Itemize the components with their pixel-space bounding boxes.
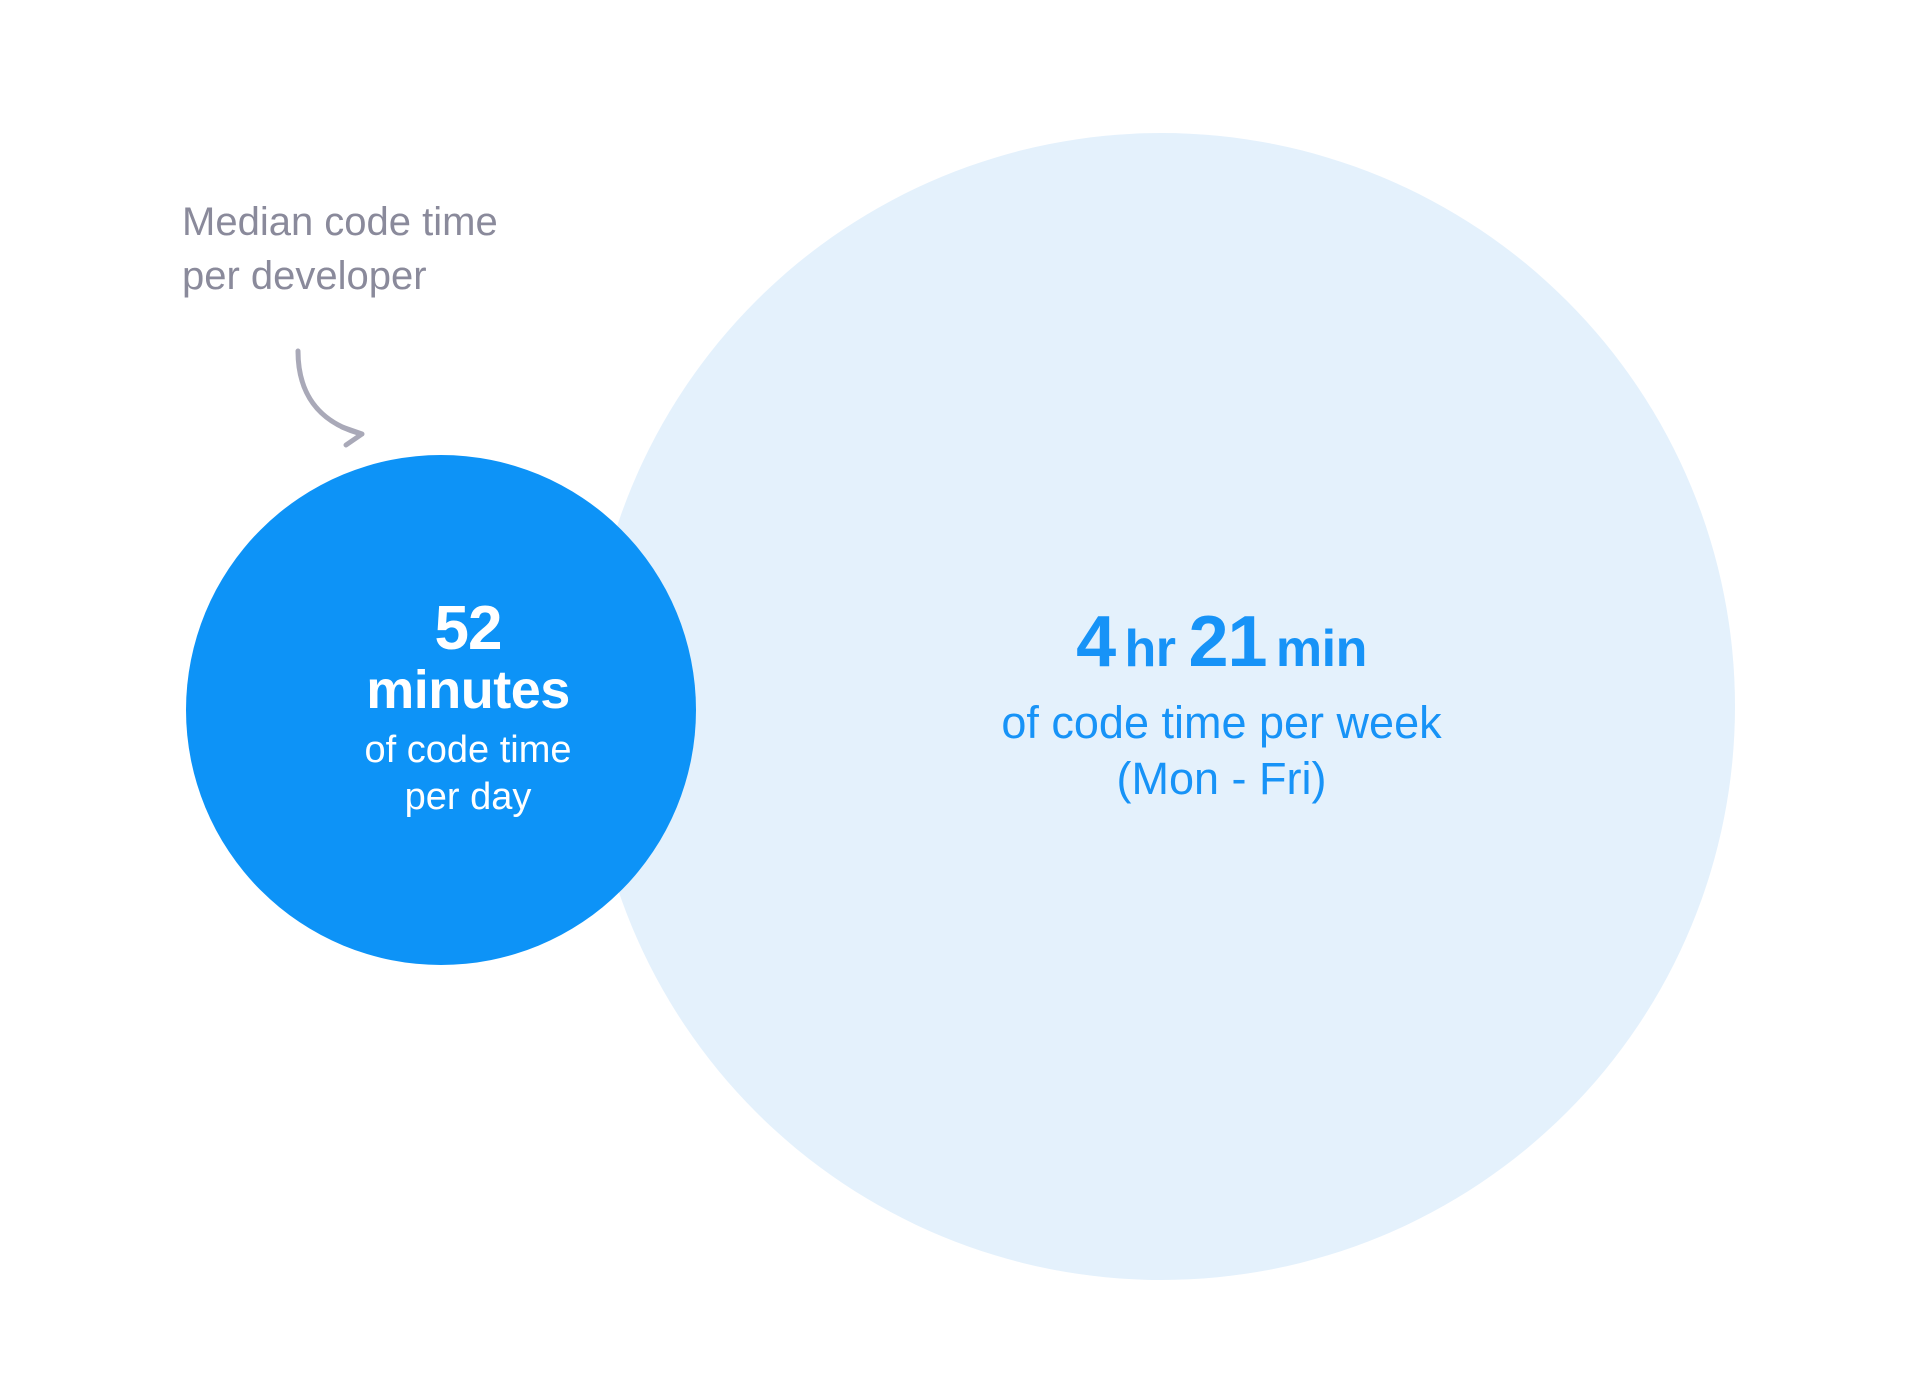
infographic-card: 4hr21min of code time per week (Mon - Fr…: [0, 0, 1920, 1383]
weekly-hours-unit: hr: [1125, 620, 1176, 678]
daily-caption-line-1: of code time: [365, 727, 572, 775]
daily-unit: minutes: [366, 660, 570, 720]
annotation-label: Median code time per developer: [182, 195, 498, 303]
weekly-caption: of code time per week (Mon - Fri): [1001, 695, 1441, 808]
weekly-minutes-unit: min: [1276, 620, 1367, 678]
weekly-caption-line-1: of code time per week: [1001, 695, 1441, 751]
weekly-hours-value: 4: [1076, 602, 1115, 682]
annotation-line-2: per developer: [182, 249, 498, 303]
curved-arrow-down-right-icon: [288, 345, 378, 450]
annotation-line-1: Median code time: [182, 195, 498, 249]
weekly-headline: 4hr21min: [1076, 605, 1367, 681]
daily-caption-line-2: per day: [365, 774, 572, 822]
weekly-code-time-circle: 4hr21min of code time per week (Mon - Fr…: [588, 133, 1735, 1280]
daily-value: 52: [435, 598, 502, 660]
daily-caption: of code time per day: [365, 727, 572, 822]
weekly-caption-line-2: (Mon - Fri): [1001, 751, 1441, 807]
weekly-minutes-value: 21: [1188, 602, 1266, 682]
daily-code-time-circle: 52 minutes of code time per day: [186, 455, 696, 965]
